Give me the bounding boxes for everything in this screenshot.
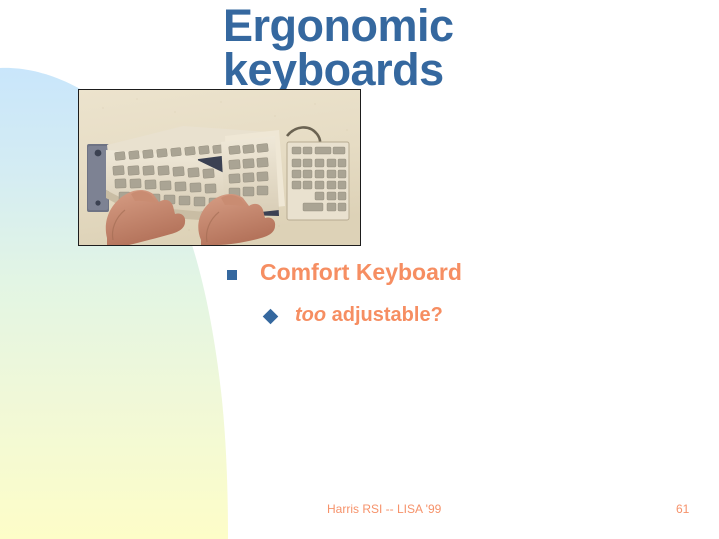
slide-canvas: Ergonomic keyboards [0, 0, 719, 539]
bullet-level2-label: too adjustable? [295, 302, 443, 328]
footer-page-number: 61 [676, 502, 689, 516]
bullet-level2-emphasis: too [295, 304, 326, 326]
bullet-level2-rest: adjustable? [326, 304, 443, 326]
keyboard-photo [78, 89, 361, 246]
diamond-bullet-icon [263, 309, 279, 325]
square-bullet-icon [227, 270, 237, 280]
bullet-item-level2: too adjustable? [265, 302, 443, 328]
bullet-item-level1: Comfort Keyboard [227, 258, 462, 286]
footer-note: Harris RSI -- LISA '99 [327, 502, 441, 516]
bullet-level1-label: Comfort Keyboard [260, 258, 462, 286]
keyboard-photo-artwork [79, 90, 360, 245]
slide-title: Ergonomic keyboards [223, 4, 703, 92]
